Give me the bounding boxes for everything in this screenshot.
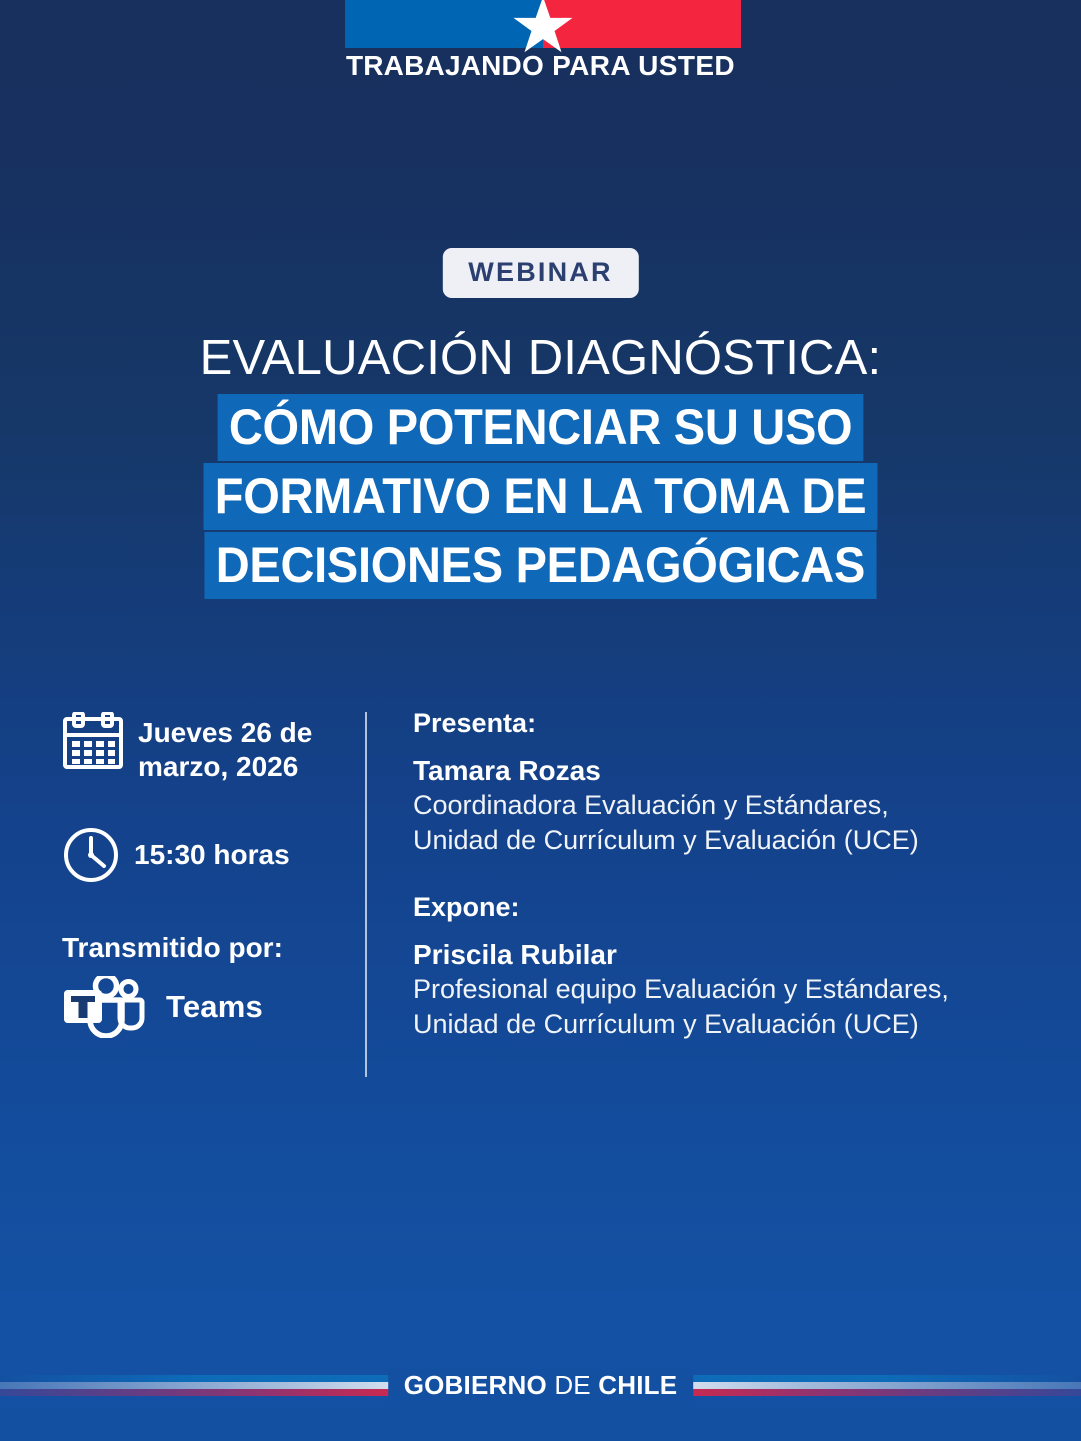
speakers-column: Presenta: Tamara Rozas Coordinadora Eval…: [413, 708, 1043, 1042]
event-date-text: Jueves 26 de marzo, 2026: [138, 712, 352, 784]
speaker-description-line-1: Profesional equipo Evaluación y Estándar…: [413, 972, 1043, 1007]
event-details: Jueves 26 de marzo, 2026 15:30 horas Tra…: [0, 700, 1081, 1090]
footer: GOBIERNO DE CHILE: [0, 1329, 1081, 1441]
vertical-divider: [365, 712, 367, 1077]
tagline-strong: TRABAJANDO: [346, 50, 544, 81]
webinar-badge: WEBINAR: [442, 248, 638, 298]
government-tagline: TRABAJANDO PARA USTED: [0, 50, 1081, 82]
speaker-block: Presenta: Tamara Rozas Coordinadora Eval…: [413, 708, 1043, 858]
speaker-name: Priscila Rubilar: [413, 937, 1043, 972]
footer-brand-gobierno: GOBIERNO: [404, 1370, 547, 1400]
gobierno-de-chile-logo: GOBIERNO DE CHILE: [388, 1369, 694, 1405]
title-line-1: EVALUACIÓN DIAGNÓSTICA:: [0, 330, 1081, 388]
speaker-description-line-2: Unidad de Currículum y Evaluación (UCE): [413, 823, 1043, 858]
footer-brand-chile: CHILE: [598, 1370, 677, 1400]
speaker-role: Presenta:: [413, 708, 1043, 739]
microsoft-teams-icon: [62, 976, 148, 1038]
event-logistics-column: Jueves 26 de marzo, 2026 15:30 horas Tra…: [62, 700, 352, 1038]
event-date-row: Jueves 26 de marzo, 2026: [62, 712, 352, 784]
broadcast-label: Transmitido por:: [62, 932, 352, 964]
broadcast-platform-row: Teams: [62, 976, 352, 1038]
white-star-icon: [512, 0, 574, 56]
tagline-rest: PARA USTED: [552, 50, 735, 81]
event-time-row: 15:30 horas: [62, 826, 352, 884]
title-highlight-row-2: FORMATIVO EN LA TOMA DE: [0, 463, 1081, 530]
title-highlight-row-1: CÓMO POTENCIAR SU USO: [0, 394, 1081, 461]
speaker-description-line-1: Coordinadora Evaluación y Estándares,: [413, 788, 1043, 823]
speaker-description-line-2: Unidad de Currículum y Evaluación (UCE): [413, 1007, 1043, 1042]
calendar-icon: [62, 712, 124, 770]
title-highlight-row-3: DECISIONES PEDAGÓGICAS: [0, 532, 1081, 599]
speaker-role: Expone:: [413, 892, 1043, 923]
title-line-3: FORMATIVO EN LA TOMA DE: [203, 463, 877, 530]
speaker-block: Expone: Priscila Rubilar Profesional equ…: [413, 892, 1043, 1042]
page-title: EVALUACIÓN DIAGNÓSTICA: CÓMO POTENCIAR S…: [0, 330, 1081, 601]
broadcast-platform-name: Teams: [166, 989, 263, 1025]
clock-icon: [62, 826, 120, 884]
webinar-poster: TRABAJANDO PARA USTED WEBINAR EVALUACIÓN…: [0, 0, 1081, 1441]
event-time-text: 15:30 horas: [134, 838, 290, 872]
title-line-2: CÓMO POTENCIAR SU USO: [218, 394, 864, 461]
chile-flag-banner: [345, 0, 741, 48]
footer-brand-de: DE: [554, 1370, 591, 1400]
title-line-4: DECISIONES PEDAGÓGICAS: [205, 532, 877, 599]
speaker-name: Tamara Rozas: [413, 753, 1043, 788]
